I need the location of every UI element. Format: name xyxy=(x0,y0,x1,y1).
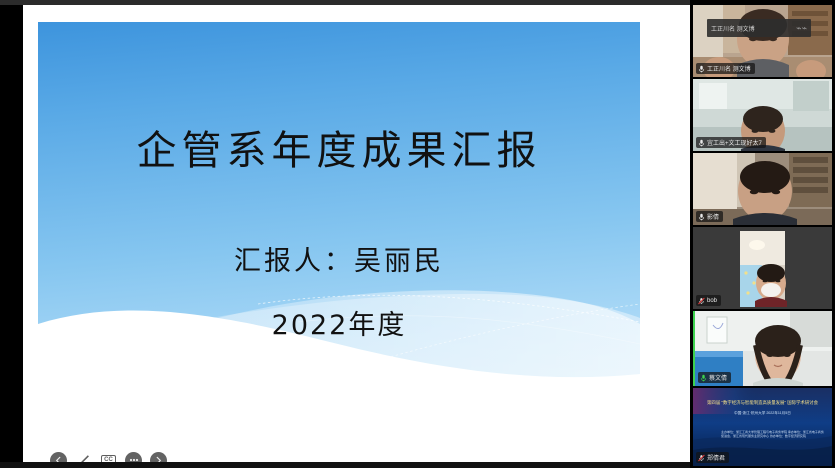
bottom-letterbox xyxy=(0,462,690,468)
participant-name-tag: 工正川名 测文博 xyxy=(696,63,755,74)
meeting-screen: 企管系年度成果汇报 汇报人：吴丽民 2022年度 CC xyxy=(0,0,835,468)
waveform-icon: ⌁⌁ xyxy=(796,24,807,33)
slide-presenter: 汇报人：吴丽民 xyxy=(38,239,640,278)
participant-name: 蔡文倩 xyxy=(709,373,727,382)
participant-name-tag: 影倩 xyxy=(696,211,723,222)
ellipsis-icon xyxy=(128,454,140,462)
participant-name: 工正川名 测文博 xyxy=(707,64,751,73)
more-options-button[interactable] xyxy=(125,452,142,463)
microphone-icon xyxy=(698,213,705,221)
previous-slide-button[interactable] xyxy=(50,452,67,463)
tile-banner-text: 工正川名 测文博 xyxy=(711,24,755,33)
participant-name: 宜工出+文工现好太7 xyxy=(707,138,762,147)
arrow-left-icon xyxy=(53,455,64,463)
participant-name-tag: bob xyxy=(696,295,721,306)
shared-slide-title: 第四届 "数字经济与智能制造高质量发展" 国际学术研讨会 xyxy=(697,400,828,406)
participants-video-sidebar[interactable]: 工正川名 测文博 ⌁⌁ 工正川名 测文博 xyxy=(690,0,835,468)
next-slide-button[interactable] xyxy=(150,452,167,463)
cc-icon: CC xyxy=(101,455,116,463)
annotate-pen-button[interactable] xyxy=(75,452,92,463)
slide-title: 企管系年度成果汇报 xyxy=(38,118,640,176)
microphone-active-icon xyxy=(700,374,707,382)
video-tile[interactable]: 工正川名 测文博 ⌁⌁ 工正川名 测文博 xyxy=(693,5,832,77)
tile-banner: 工正川名 测文博 ⌁⌁ xyxy=(707,19,811,37)
microphone-icon xyxy=(698,139,705,147)
video-tile[interactable]: 宜工出+文工现好太7 xyxy=(693,79,832,151)
left-letterbox xyxy=(0,5,23,468)
participant-name-tag: 郑倩君 xyxy=(696,452,729,463)
microphone-muted-icon xyxy=(698,454,705,462)
microphone-icon xyxy=(698,65,705,73)
presentation-slide: 企管系年度成果汇报 汇报人：吴丽民 2022年度 xyxy=(38,22,640,394)
microphone-muted-icon xyxy=(698,297,705,305)
shared-screen-area: 企管系年度成果汇报 汇报人：吴丽民 2022年度 CC xyxy=(23,5,690,462)
shared-slide-subtitle: 中国·浙江·杭州大学 2022年11月5日 xyxy=(697,411,828,416)
video-tile[interactable]: 蔡文倩 xyxy=(693,311,832,386)
shared-slide-body: 主办单位：浙江工商大学管理工程与电子商务学院 承办单位：浙江省电子商务促进会、浙… xyxy=(721,430,824,439)
participant-name: bob xyxy=(707,298,717,304)
pencil-icon xyxy=(76,453,91,463)
presentation-toolbar[interactable]: CC xyxy=(46,449,166,462)
arrow-right-icon xyxy=(153,455,164,463)
slide-year: 2022年度 xyxy=(38,303,640,342)
captions-button[interactable]: CC xyxy=(100,452,117,463)
participant-name-tag: 蔡文倩 xyxy=(698,372,731,383)
participant-name: 影倩 xyxy=(707,212,719,221)
participant-name-tag: 宜工出+文工现好太7 xyxy=(696,137,766,148)
participant-name: 郑倩君 xyxy=(707,453,725,462)
video-tile-screenshare[interactable]: 第四届 "数字经济与智能制造高质量发展" 国际学术研讨会 中国·浙江·杭州大学 … xyxy=(693,388,832,466)
video-tile[interactable]: bob xyxy=(693,227,832,309)
video-tile[interactable]: 影倩 xyxy=(693,153,832,225)
